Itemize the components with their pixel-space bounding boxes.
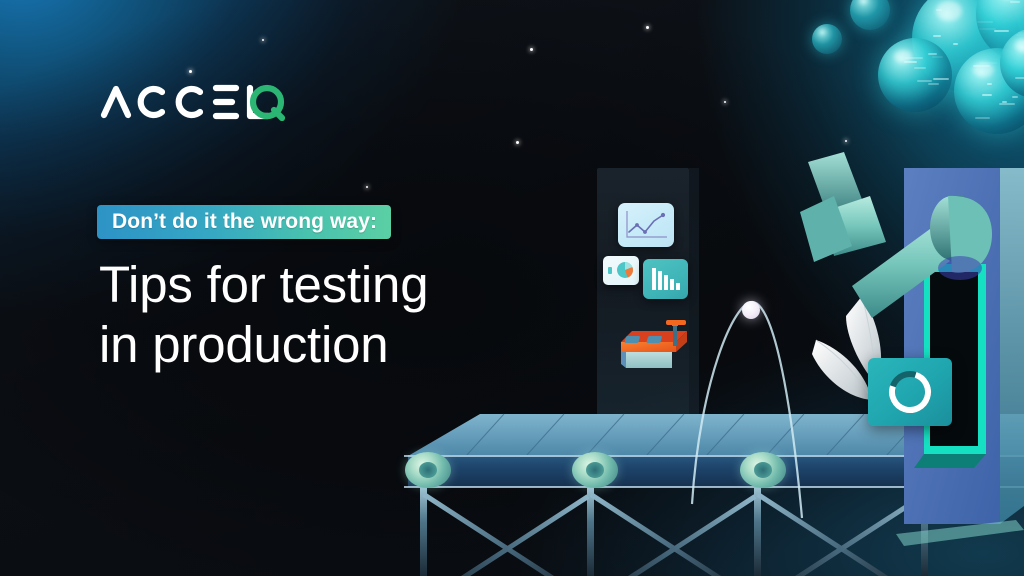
conveyor-roller: [572, 452, 618, 488]
robotic-arm: [800, 150, 1024, 330]
conveyor-leg: [420, 488, 427, 576]
title-line-1: Tips for testing: [99, 255, 569, 315]
progress-ring: [884, 366, 936, 418]
orange-machine: [610, 316, 700, 378]
bar-chart-card: [643, 259, 688, 299]
conveyor-brace: [436, 494, 590, 576]
accelq-logo[interactable]: [100, 78, 286, 122]
eyebrow-banner: Don’t do it the wrong way:: [97, 205, 391, 239]
title-line-2: in production: [99, 315, 569, 375]
pie-chart-card: [603, 256, 639, 285]
conveyor-brace: [423, 492, 577, 576]
line-chart-card: [618, 203, 674, 247]
bouncing-ball: [742, 301, 760, 319]
eyebrow-text: Don’t do it the wrong way:: [112, 210, 377, 234]
page-title: Tips for testing in production: [99, 255, 569, 375]
conveyor-roller: [405, 452, 451, 488]
conveyor-leg: [587, 488, 594, 576]
progress-ring-card: [868, 358, 952, 426]
hero-banner: Don’t do it the wrong way: Tips for test…: [0, 0, 1024, 576]
